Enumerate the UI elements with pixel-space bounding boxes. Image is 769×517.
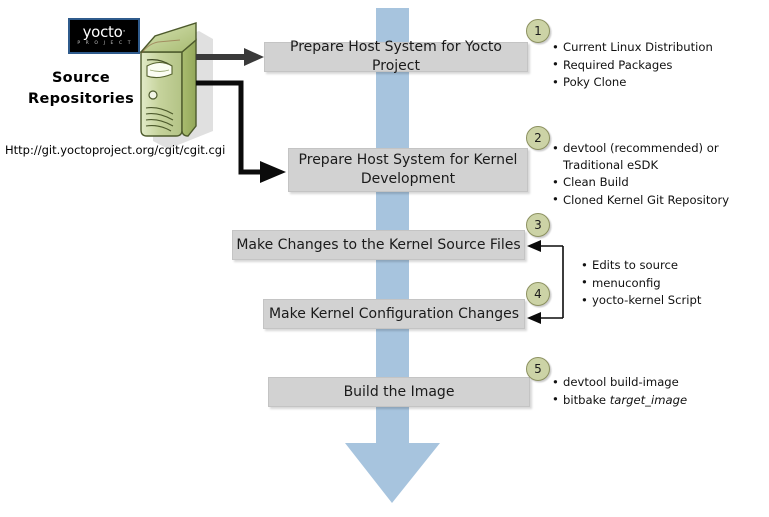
logo-dot: · — [122, 27, 125, 38]
list-item: Current Linux Distribution — [551, 39, 766, 56]
step-box-3[interactable]: Make Changes to the Kernel Source Files — [232, 230, 525, 260]
list-item: Cloned Kernel Git Repository — [551, 192, 766, 209]
logo-wordmark: yocto· — [83, 25, 126, 40]
source-repositories-title: Source Repositories — [20, 68, 142, 110]
step-5-bullet-list: devtool build-image bitbake target_image — [551, 374, 766, 409]
step-badge-4: 4 — [526, 282, 550, 306]
step-2-bullet-list: devtool (recommended) or Traditional eSD… — [551, 140, 766, 209]
diagram-canvas: yocto· P R O J E C T Source Repositories… — [0, 0, 769, 517]
list-item: yocto-kernel Script — [580, 292, 769, 309]
yocto-project-logo: yocto· P R O J E C T — [68, 18, 140, 54]
list-item: devtool build-image — [551, 374, 766, 391]
step-box-5[interactable]: Build the Image — [268, 377, 530, 407]
list-item: menuconfig — [580, 275, 769, 292]
list-item: Clean Build — [551, 174, 766, 191]
list-item: Edits to source — [580, 257, 769, 274]
step-box-1[interactable]: Prepare Host System for Yocto Project — [264, 42, 528, 72]
step-badge-3: 3 — [526, 213, 550, 237]
list-item: Poky Clone — [551, 74, 766, 91]
source-title-line1: Source — [20, 68, 142, 89]
bitbake-command: bitbake — [563, 393, 610, 407]
step-box-4[interactable]: Make Kernel Configuration Changes — [263, 299, 525, 329]
logo-word-text: yocto — [83, 23, 123, 41]
step-3-4-shared-bullet-list: Edits to source menuconfig yocto-kernel … — [580, 257, 769, 310]
step-badge-1: 1 — [526, 19, 550, 43]
list-item: bitbake target_image — [551, 392, 766, 409]
source-repository-url: Http://git.yoctoproject.org/cgit/cgit.cg… — [5, 143, 225, 157]
source-title-line2: Repositories — [20, 89, 142, 110]
step-box-2[interactable]: Prepare Host System for Kernel Developme… — [288, 148, 528, 192]
list-item: Required Packages — [551, 57, 766, 74]
list-item: devtool (recommended) or Traditional eSD… — [551, 140, 766, 173]
logo-subtitle: P R O J E C T — [75, 42, 132, 47]
source-repository-server — [141, 23, 213, 149]
bitbake-target-argument: target_image — [610, 393, 687, 407]
step-badge-5: 5 — [526, 357, 550, 381]
step-1-bullet-list: Current Linux Distribution Required Pack… — [551, 39, 766, 92]
step-badge-2: 2 — [526, 126, 550, 150]
